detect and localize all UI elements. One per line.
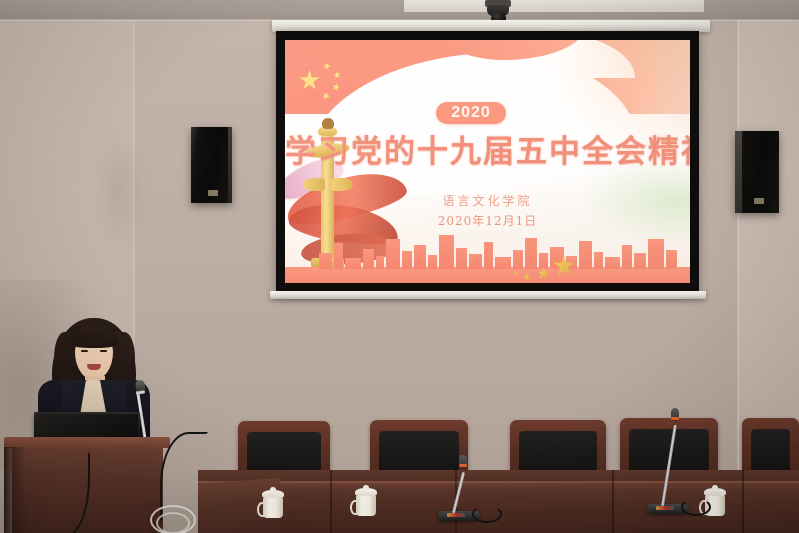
skyline-building (579, 241, 592, 269)
cup-knob (270, 487, 276, 492)
skyline-building (525, 238, 537, 269)
skyline-building (428, 255, 437, 269)
skyline-building (622, 245, 632, 269)
wall-shading (96, 130, 142, 250)
skyline-building (648, 239, 664, 269)
skyline-building (456, 248, 467, 269)
microphone-gooseneck (661, 425, 677, 506)
projection-screen: 2020 学习党的十九届五中全会精神 语言文化学院 2020年12月1日 (276, 31, 699, 293)
microphone-buttons (656, 506, 674, 510)
table-seam (742, 470, 744, 533)
skyline-building (386, 239, 400, 269)
skyline-building (402, 251, 412, 269)
microphone-cord (681, 498, 711, 516)
cup-body (263, 497, 283, 518)
skyline-building (605, 257, 620, 269)
presenter-eye (100, 350, 107, 352)
speaker-side (228, 127, 232, 203)
ceiling (0, 0, 799, 20)
microphone-indicator (459, 464, 467, 467)
skyline-building (319, 253, 332, 269)
microphone-gooseneck (452, 472, 465, 513)
skyline-building (513, 250, 523, 269)
slide-organization: 语言文化学院 (285, 192, 690, 209)
wall-speaker-right (735, 131, 779, 213)
slide-title: 学习党的十九届五中全会精神 (285, 126, 690, 171)
tea-cup (354, 485, 380, 519)
slide-date: 2020年12月1日 (285, 212, 690, 229)
column-wing (331, 178, 353, 191)
flag-star-large (299, 70, 320, 91)
speaker-logo-icon (754, 198, 764, 204)
presenter-mouth (87, 364, 101, 370)
podium-shadow (4, 447, 26, 533)
skyline-building (414, 245, 426, 269)
skyline-building (345, 258, 361, 269)
flag-star-small (331, 82, 340, 91)
column-wing (303, 178, 325, 191)
skyline-ground (285, 267, 690, 283)
cable-coil (156, 512, 190, 533)
tea-cup (261, 487, 287, 521)
flag-star-small (322, 61, 332, 71)
presenter-eye (81, 350, 88, 352)
skyline-building (495, 257, 511, 269)
microphone-buttons (447, 513, 465, 517)
projected-slide: 2020 学习党的十九届五中全会精神 语言文化学院 2020年12月1日 (285, 40, 690, 283)
cup-knob (712, 485, 718, 490)
speaker-side (735, 131, 742, 213)
wall-seam-right (737, 0, 739, 470)
microphone-cord (472, 505, 502, 523)
chinese-flag-stars-icon (299, 62, 369, 98)
wall-panel-right (738, 0, 799, 470)
cup-body (356, 495, 376, 516)
skyline-building (666, 250, 677, 269)
ceiling-panel (404, 0, 704, 12)
skyline-building (484, 242, 493, 269)
skyline-building (539, 253, 548, 269)
cup-knob (363, 485, 369, 490)
skyline-building (334, 243, 343, 269)
table-seam (612, 470, 614, 533)
slide-year-badge: 2020 (436, 102, 506, 124)
table-microphone (438, 455, 498, 521)
table-seam (330, 470, 332, 533)
wall-speaker-left (191, 127, 232, 203)
skyline-building (594, 252, 603, 269)
skyline-building (439, 235, 454, 269)
skyline-building (376, 256, 384, 269)
conference-room-photo: 2020 学习党的十九届五中全会精神 语言文化学院 2020年12月1日 (0, 0, 799, 533)
skyline-building (363, 249, 374, 269)
skyline-building (469, 254, 482, 269)
flag-star-small (332, 70, 341, 79)
microphone-indicator (671, 417, 679, 420)
city-skyline-graphic (285, 221, 690, 283)
microphone-ring (136, 390, 145, 394)
table-microphone (647, 408, 707, 514)
speaker-logo-icon (208, 190, 218, 196)
screen-weight-bar (270, 291, 706, 299)
skyline-building (634, 253, 646, 269)
